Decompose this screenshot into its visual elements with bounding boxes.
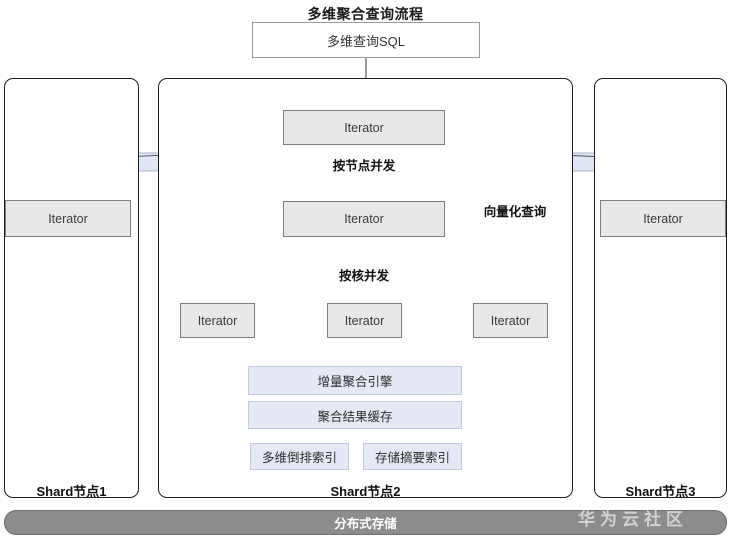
iterator-box-core-2: Iterator xyxy=(327,303,402,338)
watermark: 华为云社区 xyxy=(578,505,688,530)
storage-summary-index-box: 存储摘要索引 xyxy=(363,443,462,470)
shard-panel-1-label: Shard节点1 xyxy=(4,481,139,500)
shard-panel-3-label: Shard节点3 xyxy=(594,481,727,500)
core-parallel-label: 按核并发 xyxy=(320,265,408,284)
shard-panel-3 xyxy=(594,78,727,498)
multi-dim-inverted-index-box: 多维倒排索引 xyxy=(250,443,349,470)
page-title: 多维聚合查询流程 xyxy=(0,4,731,24)
node-parallel-label: 按节点并发 xyxy=(316,155,412,174)
iterator-box-core-1: Iterator xyxy=(180,303,255,338)
iterator-box-root: Iterator xyxy=(283,110,445,145)
diagram-canvas: 多维聚合查询流程 多维查询SQL Shard节点1 Shard节点2 Shard… xyxy=(0,0,731,537)
iterator-box-shard2-main: Iterator xyxy=(283,201,445,237)
shard-panel-2-label: Shard节点2 xyxy=(158,481,573,500)
query-sql-box: 多维查询SQL xyxy=(252,22,480,58)
shard-panel-1 xyxy=(4,78,139,498)
incremental-aggregation-engine-box: 增量聚合引擎 xyxy=(248,366,462,395)
iterator-box-shard1: Iterator xyxy=(5,200,131,237)
aggregation-result-cache-box: 聚合结果缓存 xyxy=(248,401,462,429)
iterator-box-core-3: Iterator xyxy=(473,303,548,338)
iterator-box-shard3: Iterator xyxy=(600,200,726,237)
vectorized-query-label: 向量化查询 xyxy=(467,201,563,220)
